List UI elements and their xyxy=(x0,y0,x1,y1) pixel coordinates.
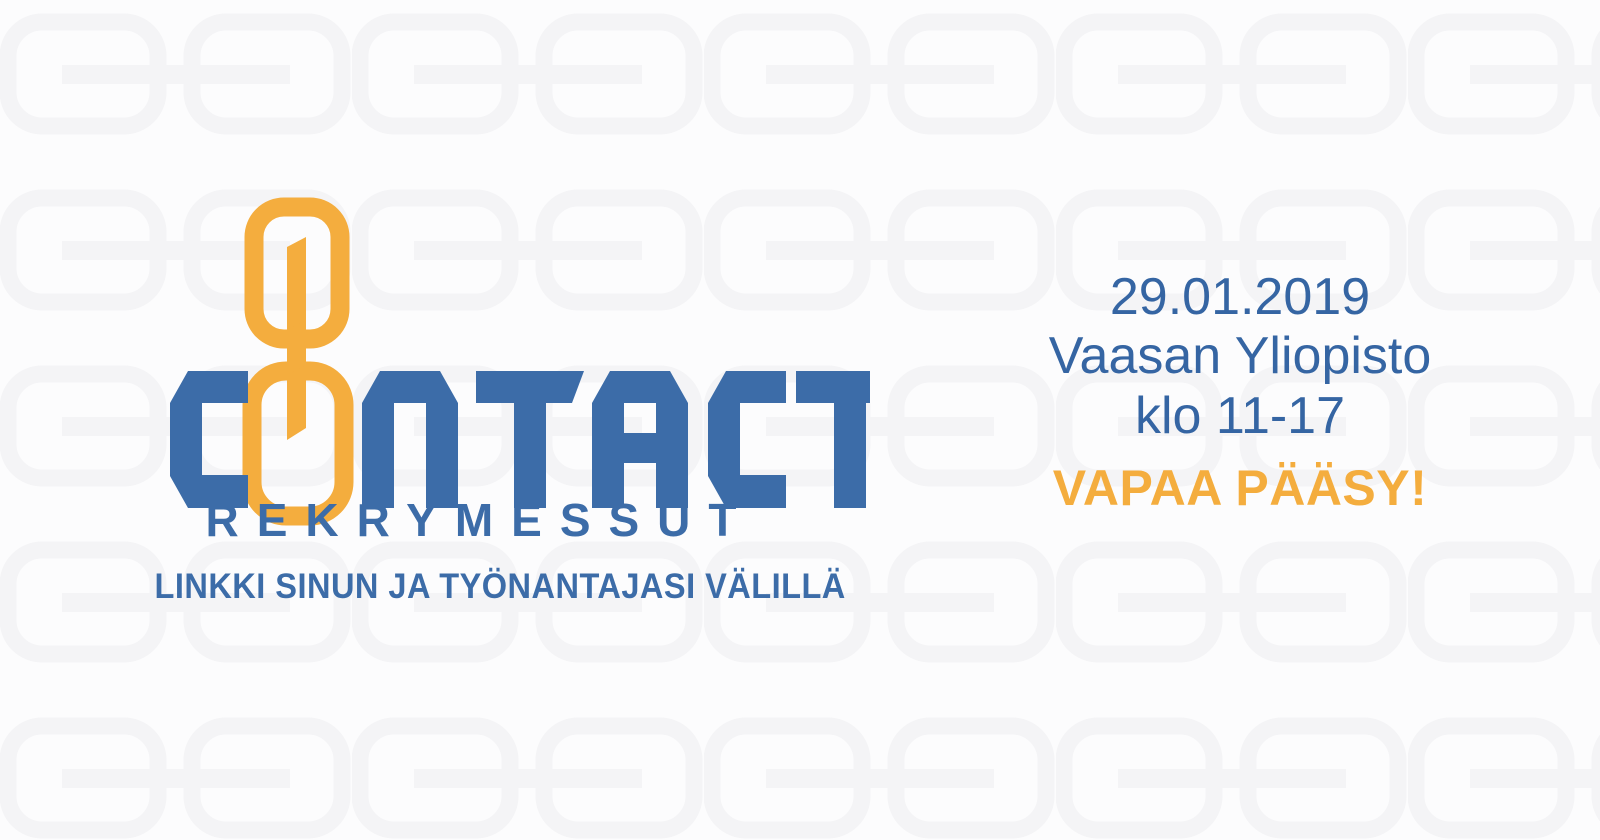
chain-link-icon xyxy=(252,207,344,516)
logo-subtitle: REKRYMESSUT xyxy=(130,493,830,547)
event-date: 29.01.2019 xyxy=(1000,268,1480,327)
logo-block: REKRYMESSUT LINKKI SINUN JA TYÖNANTAJASI… xyxy=(130,175,870,625)
contact-wordmark xyxy=(170,371,870,508)
event-info-block: 29.01.2019 Vaasan Yliopisto klo 11-17 VA… xyxy=(1000,268,1480,517)
free-entry-badge: VAPAA PÄÄSY! xyxy=(1000,460,1480,517)
event-time: klo 11-17 xyxy=(1000,387,1480,446)
event-venue: Vaasan Yliopisto xyxy=(1000,327,1480,386)
event-poster: REKRYMESSUT LINKKI SINUN JA TYÖNANTAJASI… xyxy=(0,0,1600,840)
logo-tagline: LINKKI SINUN JA TYÖNANTAJASI VÄLILLÄ xyxy=(155,567,806,607)
